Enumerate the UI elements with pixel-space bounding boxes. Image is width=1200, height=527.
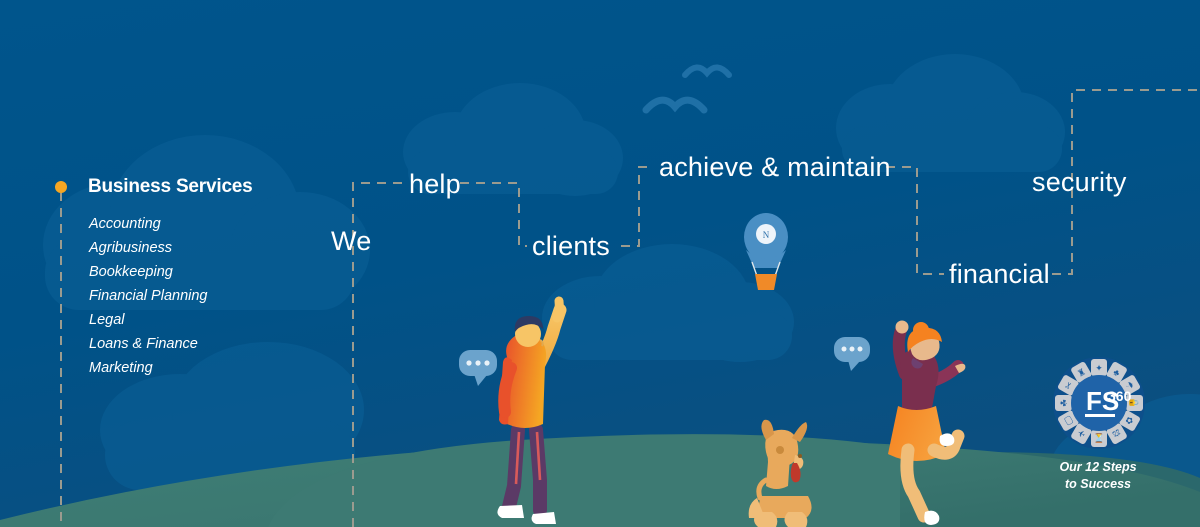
fs360-logo[interactable]: ✦ ♣ ☂ 🔒 ✿ ⚖ ⌛ ✈ 🖵 ☘ ✂ ♜ FS 360 <box>1040 355 1158 451</box>
dog-eye <box>776 446 784 454</box>
list-item[interactable]: Agribusiness <box>89 236 208 260</box>
speech-bubble-icon <box>459 350 497 386</box>
segment-icon: ✦ <box>1095 363 1103 373</box>
flow-word-security: security <box>1032 167 1127 198</box>
list-item[interactable]: Marketing <box>89 356 208 380</box>
shoe <box>924 511 939 525</box>
illustration-banner: N <box>0 0 1200 527</box>
flow-word-we: We <box>331 226 371 257</box>
list-item[interactable]: Loans & Finance <box>89 332 208 356</box>
dog-ear <box>792 422 807 442</box>
flow-word-help: help <box>409 169 461 200</box>
list-item[interactable]: Legal <box>89 308 208 332</box>
woman-jumping <box>888 321 965 526</box>
tagline-line-1: Our 12 Steps <box>1059 460 1136 474</box>
shoe <box>497 505 524 518</box>
dog-paw <box>754 512 777 527</box>
logo-underline <box>1085 414 1115 417</box>
segment-icon: ⌛ <box>1093 433 1104 444</box>
speech-bubble-icon <box>834 337 870 371</box>
services-list: Accounting Agribusiness Bookkeeping Fina… <box>89 212 208 380</box>
logo-tagline: Our 12 Steps to Success <box>1043 459 1153 493</box>
man-pointing-up <box>497 301 564 524</box>
segment-icon: ☘ <box>1059 399 1069 407</box>
flow-word-achieve: achieve & maintain <box>659 152 891 183</box>
fist <box>896 321 909 334</box>
sitting-dog <box>749 420 812 527</box>
fs360-badge: ✦ ♣ ☂ 🔒 ✿ ⚖ ⌛ ✈ 🖵 ☘ ✂ ♜ FS 360 <box>1040 355 1158 451</box>
dog-nose <box>798 454 802 458</box>
list-item[interactable]: Financial Planning <box>89 284 208 308</box>
shoe <box>532 512 556 524</box>
page-title: Business Services <box>88 176 253 198</box>
dog-paw <box>785 512 808 527</box>
list-item[interactable]: Bookkeeping <box>89 260 208 284</box>
flow-word-financial: financial <box>949 259 1050 290</box>
hair-bun <box>913 322 929 338</box>
dog-tail <box>759 480 766 498</box>
list-item[interactable]: Accounting <box>89 212 208 236</box>
flow-word-clients: clients <box>532 231 610 262</box>
logo-text-360: 360 <box>1108 388 1132 404</box>
tagline-line-2: to Success <box>1065 477 1131 491</box>
